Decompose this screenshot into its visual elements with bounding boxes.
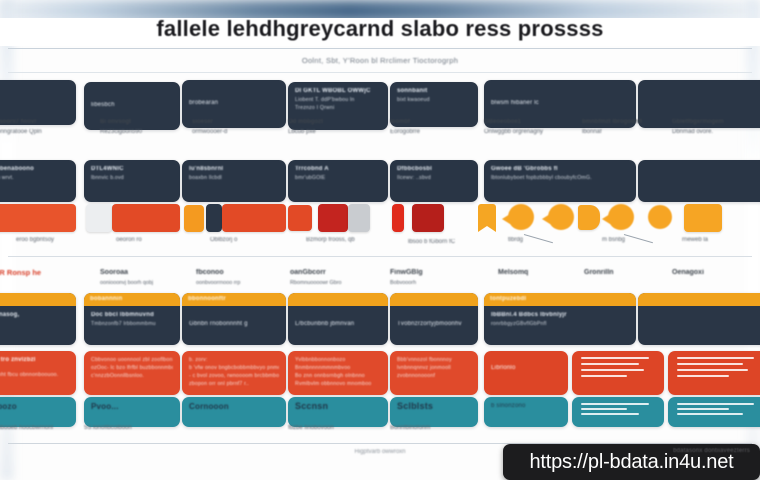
row4-card-0-body: Ebormnnasog, mbBl. bbox=[0, 306, 76, 333]
row5-card-3-line-2: Bo znn onnbsrnbgh olnbnno bbox=[295, 372, 381, 380]
row6-card-7-rule-1 bbox=[677, 408, 729, 410]
band-blob-icon-16 bbox=[648, 205, 672, 229]
band-tab-14 bbox=[578, 205, 600, 230]
page-title: fallele lehdhgreycarnd slabo ress prosss… bbox=[0, 16, 760, 42]
row5-card-6-rule-1 bbox=[581, 363, 639, 365]
watermark-url-badge[interactable]: bdatasonx dontiiaveezterrs https://pl-bd… bbox=[503, 444, 760, 480]
row2-card-5[interactable]: Gwoee dB 'Gbrobbs fl lbtonlubyboet fopbz… bbox=[484, 160, 636, 202]
band-caption-6: m bsnbg bbox=[602, 236, 625, 245]
row5-card-1[interactable]: Cbbvonoo uoonnool zbl zooflbonlo ozOoc- … bbox=[84, 351, 180, 395]
row5-card-0-body: Bbwc zl tro znvlzbzl bomnnoonht fbcu obn… bbox=[0, 351, 76, 384]
row4-card-5[interactable]: tontpuzebdl lbBBnl.4 Bdbcs lbvbnlyjr ron… bbox=[484, 293, 636, 345]
band-bar-dark-4 bbox=[206, 204, 222, 232]
row2-card-2-body: lu'n8sbnrnl boaxbn llcbdl bbox=[182, 160, 286, 187]
row2-card-2[interactable]: lu'n8sbnrnl boaxbn llcbdl bbox=[182, 160, 286, 202]
row2-card-4-body: Dfbbcbosbl Ilcewv: ..sbvd bbox=[390, 160, 478, 187]
row4-card-2-head-strip: bbonnoonftr bbox=[182, 293, 286, 306]
row1-caption-1-line1: Bi onvsogt bbox=[100, 118, 131, 127]
row3-label-5-title: Melsomq bbox=[498, 268, 528, 277]
row5-card-4-line-0: Bbb'vnnozol fbonnnoy bbox=[397, 356, 471, 364]
row6-card-7-line-pattern bbox=[668, 397, 760, 421]
row4-card-0-line-0: Ebormnnasog, bbox=[0, 311, 69, 320]
row2-card-4-line-1: Ilcewv: ..sbvd bbox=[397, 174, 471, 182]
row1-caption-7-line2: Dbnmad ovore. bbox=[672, 128, 713, 137]
row1-card-1-line-0: libesbch bbox=[91, 101, 173, 110]
row1-card-2-line-0: brobearan bbox=[189, 99, 279, 108]
row1-card-1[interactable]: libesbch bbox=[84, 82, 180, 130]
row5-card-1-line-2: c'nnzzbOonnllbsnloo. bbox=[91, 372, 173, 380]
row6-card-5-label: b slnonzono bbox=[491, 402, 561, 411]
row6-card-4[interactable]: Sclblsts bbox=[390, 397, 478, 427]
row1-caption-0-line2: conngratooe Qpln bbox=[0, 128, 42, 137]
row6-card-7[interactable] bbox=[668, 397, 760, 427]
row3-label-4-title: FinwGBlg bbox=[390, 268, 423, 277]
row2-card-0[interactable]: 'Sfjbs lbbenaboono rnubb obh wrvt. bbox=[0, 160, 76, 202]
row6-caption-0: nnbooeb hoocbwrnonl bbox=[0, 424, 53, 433]
row1-card-1-body: libesbch bbox=[84, 82, 180, 115]
row2-card-0-line-0: 'Sfjbs lbbenaboono bbox=[0, 165, 69, 174]
row6-card-5[interactable]: b slnonzono bbox=[484, 397, 568, 427]
row5-card-3-body: Yvlbbnbbonnonbozo Bnmbnnnnmmnmbvoo Bo zn… bbox=[288, 351, 388, 393]
band-blob-icon-13 bbox=[548, 204, 574, 230]
row6-card-3-body: Sccnsn bbox=[288, 397, 388, 416]
row1-caption-5-line2: Onlwggbb orgrenagny bbox=[484, 128, 543, 137]
row1-caption-6-line1: bmnbfmzt lbrogoonfl bbox=[582, 118, 642, 127]
row3-label-3-title: oanGbcorr bbox=[290, 268, 326, 277]
row4-card-1-line-0: Doc bbcl lbbmnuvnd bbox=[91, 311, 173, 320]
row6-card-5-body: b slnonzono bbox=[484, 397, 568, 416]
row6-caption-3: fbzbe finobovoon bbox=[288, 424, 334, 433]
row5-card-4-body: Bbb'vnnozol fbonnnoy lvnbnnqnnvz jonmool… bbox=[390, 351, 478, 385]
row3-label-2-sub: oonbvoorrnooo rrp bbox=[196, 279, 240, 288]
row2-card-3-line-1: bmr'ubGOlE bbox=[295, 174, 381, 182]
row1-card-4-body: sonnbanit bixt kwaoeud bbox=[390, 82, 478, 109]
row6-caption-4: Bonnfblnofonm bbox=[390, 424, 430, 433]
row2-card-0-body: 'Sfjbs lbbenaboono rnubb obh wrvt. bbox=[0, 160, 76, 187]
row1-card-3-line-0: DI GKTL WBOBL OWWjC bbox=[295, 87, 381, 96]
row1-caption-4-line2: Eorogobrre bbox=[390, 128, 420, 137]
row6-card-1-body: Pvoo... bbox=[84, 397, 180, 416]
row4-card-0-line-1: mbBl. bbox=[0, 320, 69, 328]
row5-card-2-line-1: b 'vfw onov bngbcbobbmbbvyo pnmo— bbox=[189, 364, 279, 372]
band-bar-0 bbox=[0, 204, 76, 232]
row3-label-1-title: Sooroaa bbox=[100, 268, 128, 277]
row1-card-6-body bbox=[638, 80, 760, 90]
row2-card-4-line-0: Dfbbcbosbl bbox=[397, 165, 471, 174]
row2-card-2-line-1: boaxbn llcbdl bbox=[189, 174, 279, 182]
row1-caption-6-line2: lbonnaf bbox=[582, 128, 602, 137]
band-bar-5 bbox=[222, 204, 286, 232]
row1-card-3-body: DI GKTL WBOBL OWWjC Liobent T. ddP'bwbou… bbox=[288, 82, 388, 117]
row1-card-4-line-1: bixt kwaoeud bbox=[397, 96, 471, 104]
row5-card-7-rule-2 bbox=[677, 369, 748, 371]
row6-caption-1: 5S lonoflbcolboon bbox=[84, 424, 132, 433]
row4-card-6-body bbox=[638, 306, 760, 316]
row6-card-4-label: Sclblsts bbox=[397, 402, 471, 411]
row4-card-2-head-label: bbonnoonftr bbox=[182, 293, 286, 306]
row5-card-5[interactable]: Librlonlo bbox=[484, 351, 568, 395]
row1-caption-4-line1: Ioombf bbox=[390, 118, 410, 127]
row4-card-3-body: L/bcbunbnb jbmnvan bbox=[288, 306, 388, 334]
row5-card-1-line-1: ozOoc- lc bzo lfrfbl buzbbonnmbolnbbrbo bbox=[91, 364, 173, 372]
band-chip-deep-7 bbox=[318, 204, 348, 232]
row2-card-3-body: Trrcobnd A bmr'ubGOlE bbox=[288, 160, 388, 187]
band-chip-6 bbox=[288, 205, 312, 231]
row6-card-6-rule-2 bbox=[581, 413, 639, 415]
row1-card-0-body bbox=[0, 80, 76, 90]
row6-card-2-label: Cornooon bbox=[189, 402, 279, 411]
band-bar-pale-1 bbox=[86, 204, 112, 232]
row3-divider bbox=[8, 256, 752, 257]
row1-card-3-line-1: Liobent T. ddP'bwbou ln bbox=[295, 96, 381, 104]
row5-card-4[interactable]: Bbb'vnnozol fbonnnoy lvnbnnqnnvz jonmool… bbox=[390, 351, 478, 395]
row4-card-1-head-strip: bobannnin bbox=[84, 293, 180, 306]
band-bookmark-wide-17 bbox=[684, 204, 722, 232]
row2-card-0-line-1: rnubb obh wrvt. bbox=[0, 174, 69, 182]
row3-label-0-title: BR Ronsp he bbox=[0, 268, 41, 277]
row4-card-3-line-0: L/bcbunbnb jbmnvan bbox=[295, 320, 381, 329]
row5-card-4-line-1: lvnbnnqnnvz jonmooll bbox=[397, 364, 471, 372]
row4-card-1[interactable]: bobannnin Doc bbcl lbbmnuvnd Tmbnzonfb7 … bbox=[84, 293, 180, 345]
row2-card-6-body bbox=[638, 160, 760, 170]
band-caption-7: rrieweb la bbox=[682, 236, 708, 245]
row1-card-5-body: blwsm hibaner lc bbox=[484, 80, 636, 113]
row4-card-5-line-0: lbBBnl.4 Bdbcs lbvbnlyjr bbox=[491, 311, 629, 320]
row5-card-3-line-3: Rvmlbvlm obbnnovo mnomboo bbox=[295, 380, 381, 388]
row4-card-1-head-label: bobannnin bbox=[84, 293, 180, 306]
band-chip-thin-9 bbox=[392, 204, 404, 232]
row4-card-5-head-strip: tontpuzebdl bbox=[484, 293, 636, 306]
row3-label-7-title: Oenagoxi bbox=[672, 268, 704, 277]
row5-card-2[interactable]: b. zorv: b 'vfw onov bngbcbobbmbbvyo pnm… bbox=[182, 351, 286, 395]
band-caption-0: eroo bgbntsoy bbox=[16, 236, 54, 245]
row1-caption-3-line2: Lbcub pxe bbox=[288, 128, 316, 137]
row2-card-3-line-0: Trrcobnd A bbox=[295, 165, 381, 174]
row1-caption-7-line1: Gbletfbgxrmogem bbox=[672, 118, 724, 127]
row5-card-6-rule-3 bbox=[581, 375, 627, 377]
row5-card-5-line-0: Librlonlo bbox=[491, 364, 561, 373]
row4-card-5-body: lbBBnl.4 Bdbcs lbvbnlyjr ronrbbgyzGBvflG… bbox=[484, 306, 636, 333]
row2-card-5-line-0: Gwoee dB 'Gbrobbs fl bbox=[491, 165, 629, 174]
row2-card-2-line-0: lu'n8sbnrnl bbox=[189, 165, 279, 174]
row5-card-6[interactable] bbox=[572, 351, 664, 395]
row3-label-1-sub: ooniooonvj boorh qobj bbox=[100, 279, 153, 288]
row6-card-6-rule-0 bbox=[581, 403, 649, 405]
row5-card-7-rule-0 bbox=[677, 357, 754, 359]
row5-card-7-rule-3 bbox=[677, 375, 729, 377]
row5-card-0[interactable]: Bbwc zl tro znvlzbzl bomnnoonht fbcu obn… bbox=[0, 351, 76, 395]
row2-card-1-line-0: DTL4WNIC bbox=[91, 165, 173, 174]
row3-label-4-sub: Bobvooorh bbox=[390, 279, 416, 288]
row6-card-6-line-pattern bbox=[572, 397, 664, 421]
row5-card-2-line-0: b. zorv: bbox=[189, 356, 279, 364]
row6-card-6[interactable] bbox=[572, 397, 664, 427]
row2-card-5-line-1: lbtonlubyboet fopbzbbbyl cboubyfcOmG. bbox=[491, 174, 629, 182]
row5-card-0-line-1: bomnnoonht fbcu obnnonboouoo. bbox=[0, 371, 69, 379]
row5-card-2-body: b. zorv: b 'vfw onov bngbcbobbmbbvyo pnm… bbox=[182, 351, 286, 393]
row2-card-3[interactable]: Trrcobnd A bmr'ubGOlE bbox=[288, 160, 388, 202]
row6-card-2-body: Cornooon bbox=[182, 397, 286, 416]
row4-card-4-line-0: Tvobnzrzortyjbmoonhv bbox=[397, 320, 471, 329]
row5-card-3-line-0: Yvlbbnbbonnonbozo bbox=[295, 356, 381, 364]
row5-card-2-line-2: - c bvol zovoo, rwnoooom brcbbmbonf bbox=[189, 372, 279, 380]
row6-card-0-label: blncnbozo bbox=[0, 402, 69, 411]
row5-card-3[interactable]: Yvlbbnbbonnonbozo Bnmbnnnnmmnmbvoo Bo zn… bbox=[288, 351, 388, 395]
row5-card-5-body: Librlonlo bbox=[484, 351, 568, 378]
row5-card-6-rule-2 bbox=[581, 369, 644, 371]
row5-card-0-line-0: Bbwc zl tro znvlzbzl bbox=[0, 356, 69, 365]
row6-card-6-rule-1 bbox=[581, 408, 627, 410]
infographic-canvas: fallele lehdhgreycarnd slabo ress prosss… bbox=[0, 0, 760, 480]
band-caption-3: Bzmorp frooss, qb bbox=[306, 236, 355, 245]
row5-card-4-line-2: zvobnnonooonf bbox=[397, 372, 471, 380]
band-leader-line-1 bbox=[624, 234, 653, 243]
row4-card-2-body: Gbnbn rnobonnnht g bbox=[182, 306, 286, 334]
row4-card-2-line-0: Gbnbn rnobonnnht g bbox=[189, 320, 279, 329]
row3-label-3-sub: Rbomnuoooowr Gbro bbox=[290, 279, 342, 288]
row2-card-6[interactable] bbox=[638, 160, 760, 202]
row4-card-5-head-label: tontpuzebdl bbox=[484, 293, 636, 306]
row2-card-5-body: Gwoee dB 'Gbrobbs fl lbtonlubyboet fopbz… bbox=[484, 160, 636, 187]
band-caption-2: Oblbzorj o bbox=[210, 236, 237, 245]
header-divider-1 bbox=[8, 48, 752, 49]
row3-label-6-title: Gronrilln bbox=[584, 268, 614, 277]
row4-card-1-body: Doc bbcl lbbmnuvnd Tmbnzonfb7 lrbbommbmu bbox=[84, 306, 180, 333]
band-caption-4: lbsoo b fGborn fC bbox=[408, 238, 455, 247]
row1-caption-5-line1: GBeoeoboe1 bbox=[484, 118, 521, 127]
row1-card-2-body: brobearan bbox=[182, 80, 286, 113]
row5-card-7-line-pattern bbox=[668, 351, 760, 383]
row5-card-7[interactable] bbox=[668, 351, 760, 395]
page-subtitle: Oolnt, Sbt, Y'Roon bl Rrclimer Tioctorog… bbox=[0, 56, 760, 65]
row4-card-1-line-1: Tmbnzonfb7 lrbbommbmu bbox=[91, 320, 173, 328]
band-bar-2 bbox=[112, 204, 180, 232]
row5-card-1-body: Cbbvonoo uoonnool zbl zooflbonlo ozOoc- … bbox=[84, 351, 180, 385]
band-leader-line-0 bbox=[524, 234, 553, 243]
row6-card-0-body: blncnbozo bbox=[0, 397, 76, 416]
row6-card-1[interactable]: Pvoo... bbox=[84, 397, 180, 427]
row6-card-2[interactable]: Cornooon bbox=[182, 397, 286, 427]
row5-card-7-rule-1 bbox=[677, 363, 743, 365]
row2-card-1[interactable]: DTL4WNIC lbnnvic b.ovd bbox=[84, 160, 180, 202]
row5-card-1-line-0: Cbbvonoo uoonnool zbl zooflbonlo bbox=[91, 356, 173, 364]
row5-card-3-line-1: Bnmbnnnnmmnmbvoo bbox=[295, 364, 381, 372]
watermark-ghost-text: bdatasonx dontiiaveezterrs bbox=[673, 448, 750, 454]
row3-label-2-title: fbconoo bbox=[196, 268, 224, 277]
band-bookmark-icon-11 bbox=[478, 204, 496, 226]
row2-card-4[interactable]: Dfbbcbosbl Ilcewv: ..sbvd bbox=[390, 160, 478, 202]
row1-caption-0-line1: esoorii7 fwovr bbox=[0, 118, 37, 127]
row6-card-7-rule-0 bbox=[677, 403, 754, 405]
band-caption-5: tlbrdg bbox=[508, 236, 523, 245]
row4-card-4-body: Tvobnzrzortyjbmoonhv bbox=[390, 306, 478, 334]
band-chip-deep-10 bbox=[412, 204, 444, 232]
row4-card-4[interactable]: Tvobnzrzortyjbmoonhv bbox=[390, 293, 478, 345]
row6-card-3[interactable]: Sccnsn bbox=[288, 397, 388, 427]
row4-card-6[interactable] bbox=[638, 293, 760, 345]
row1-caption-1-line2: Re23cigbon590 bbox=[100, 128, 142, 137]
row1-card-4-line-0: sonnbanit bbox=[397, 87, 471, 96]
row4-card-5-line-1: ronrbbgyzGBvflGbPnfl bbox=[491, 320, 629, 328]
row4-card-6-head-strip bbox=[638, 293, 760, 306]
row4-card-0-head-strip bbox=[0, 293, 76, 306]
row4-card-3[interactable]: L/bcbunbnb jbmnvan bbox=[288, 293, 388, 345]
row5-card-6-rule-0 bbox=[581, 357, 649, 359]
band-blob-icon-15 bbox=[608, 204, 634, 230]
header-divider-2 bbox=[8, 72, 752, 73]
row4-card-0[interactable]: Ebormnnasog, mbBl. bbox=[0, 293, 76, 345]
row6-card-3-label: Sccnsn bbox=[295, 402, 381, 411]
row6-card-0[interactable]: blncnbozo bbox=[0, 397, 76, 427]
row1-caption-2-line1: sioeser bbox=[192, 118, 213, 127]
row2-card-1-body: DTL4WNIC lbnnvic b.ovd bbox=[84, 160, 180, 187]
row6-card-4-body: Sclblsts bbox=[390, 397, 478, 416]
row1-card-3-line-2: Treznzo I Qrwni bbox=[295, 104, 381, 112]
band-caption-1: oeorori ro bbox=[116, 236, 142, 245]
row5-card-2-line-3: zbopon orr onl pbrnf7 r.. bbox=[189, 380, 279, 388]
row4-card-2[interactable]: bbonnoonftr Gbnbn rnobonnnht g bbox=[182, 293, 286, 345]
row1-caption-3-line1: Od mbbgozt bbox=[288, 118, 323, 127]
row4-card-3-head-strip bbox=[288, 293, 388, 306]
row6-card-1-label: Pvoo... bbox=[91, 402, 173, 411]
row5-card-6-line-pattern bbox=[572, 351, 664, 383]
band-blob-icon-12 bbox=[508, 204, 534, 230]
band-chip-pale-8 bbox=[348, 204, 370, 232]
row6-card-7-rule-2 bbox=[677, 413, 743, 415]
row1-card-5-line-0: blwsm hibaner lc bbox=[491, 99, 629, 108]
band-tab-3 bbox=[184, 205, 204, 232]
row1-caption-2-line2: ormwoooer-d bbox=[192, 128, 227, 137]
row4-card-4-head-strip bbox=[390, 293, 478, 306]
row2-card-1-line-1: lbnnvic b.ovd bbox=[91, 174, 173, 182]
